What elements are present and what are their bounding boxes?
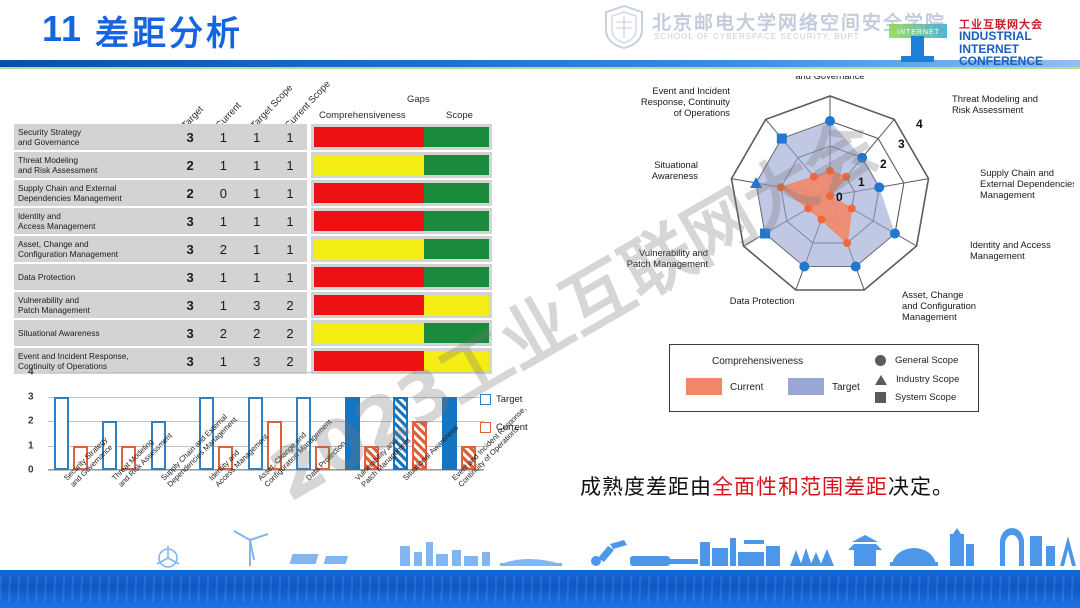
university-name-en: SCHOOL OF CYBERSPACE SECURITY, BUPT <box>654 32 860 41</box>
table-cell-target-scope: 1 <box>240 208 273 234</box>
conclusion-prefix: 成熟度差距由 <box>580 476 712 499</box>
radar-marker-general-scope <box>851 261 861 271</box>
table-row: Asset, Change andConfiguration Managemen… <box>14 236 492 262</box>
table-cell-current: 1 <box>207 208 240 234</box>
table-cell-current-scope: 1 <box>273 124 306 150</box>
table-body: Security Strategyand Governance3111Threa… <box>14 122 492 376</box>
legend-title-comprehensiveness: Comprehensiveness <box>712 356 803 367</box>
conclusion-suffix: 决定。 <box>888 476 954 499</box>
legend-label-target: Target <box>832 382 860 393</box>
table-cell-gap-bars <box>311 208 492 234</box>
gap-bar-scope <box>424 323 489 343</box>
radar-r-tick: 0 <box>836 190 843 204</box>
gap-bar-comprehensiveness <box>314 183 425 203</box>
table-row: Vulnerability andPatch Management3132 <box>14 292 492 318</box>
table-cell-target: 3 <box>173 236 206 262</box>
title-divider-green <box>0 67 1080 69</box>
radar-chart-legend: Comprehensiveness Current Target General… <box>669 344 979 412</box>
table-row: Security Strategyand Governance3111 <box>14 124 492 150</box>
table-row: Supply Chain and ExternalDependencies Ma… <box>14 180 492 206</box>
table-cell-capability: Threat Modelingand Risk Assessment <box>14 152 173 178</box>
table-cell-capability: Asset, Change andConfiguration Managemen… <box>14 236 173 262</box>
table-header-gaps: Gaps <box>407 94 430 105</box>
radar-category-label: Vulnerability andPatch Management <box>627 247 709 269</box>
table-cell-target: 2 <box>173 180 206 206</box>
table-cell-current-scope: 1 <box>273 264 306 290</box>
table-cell-target: 3 <box>173 320 206 346</box>
conclusion-text: 成熟度差距由全面性和范围差距决定。 <box>580 471 954 501</box>
table-row: Identity andAccess Management3111 <box>14 208 492 234</box>
radar-category-label: Supply Chain andExternal DependenciesMan… <box>980 167 1074 200</box>
gap-bar-scope <box>424 267 489 287</box>
bar-chart-y-tick: 2 <box>28 416 34 427</box>
table-cell-current-scope: 1 <box>273 180 306 206</box>
bar-chart-y-tick: 1 <box>28 440 34 451</box>
gap-bar-scope <box>424 295 489 315</box>
radar-marker-general-scope <box>799 261 809 271</box>
table-cell-capability: Identity andAccess Management <box>14 208 173 234</box>
bar-legend-item-target: Target <box>480 394 570 405</box>
square-marker-icon <box>875 392 886 403</box>
gap-bar-comprehensiveness <box>314 155 425 175</box>
table-cell-capability: Security Strategyand Governance <box>14 124 173 150</box>
conference-name-en: INDUSTRIAL INTERNET CONFERENCE <box>959 30 1043 68</box>
gap-bar-scope <box>424 211 489 231</box>
radar-category-label: Identity and AccessManagement <box>970 239 1051 261</box>
table-header-comprehensiveness: Comprehensiveness <box>319 110 406 121</box>
maturity-radar-chart: 01234Security Strategyand GovernanceThre… <box>612 76 1074 326</box>
bar-chart-y-tick: 3 <box>28 391 34 402</box>
table-cell-target-scope: 1 <box>240 236 273 262</box>
table-cell-current: 1 <box>207 152 240 178</box>
table-cell-capability: Situational Awareness <box>14 320 173 346</box>
svg-text:INTERNET: INTERNET <box>897 29 940 36</box>
radar-r-tick: 3 <box>898 137 905 151</box>
radar-marker-system-scope <box>777 134 787 144</box>
target-swatch-icon <box>480 394 491 405</box>
bar-chart-y-tick: 0 <box>28 465 34 476</box>
radar-marker-general-scope <box>890 229 900 239</box>
radar-chart-svg: 01234Security Strategyand GovernanceThre… <box>612 76 1074 326</box>
footer-water-band <box>0 570 1080 608</box>
radar-r-tick: 4 <box>916 117 923 131</box>
slide-header: 11 差距分析 北京邮电大学网络空间安全学院 SCHOOL OF CYBERSP… <box>0 0 1080 68</box>
legend-label-industry-scope: Industry Scope <box>896 374 959 385</box>
gap-bar-scope <box>424 155 489 175</box>
conference-en-line3: CONFERENCE <box>959 55 1043 68</box>
gap-bar-comprehensiveness <box>314 267 425 287</box>
legend-label-system-scope: System Scope <box>895 392 956 403</box>
table-cell-current: 0 <box>207 180 240 206</box>
gap-bar-comprehensiveness <box>314 323 425 343</box>
legend-item-system-scope: System Scope <box>875 392 956 403</box>
bar-legend-label-target: Target <box>496 394 522 405</box>
radar-category-label: SituationalAwareness <box>652 159 699 181</box>
table-row: Situational Awareness3222 <box>14 320 492 346</box>
radar-marker-current <box>848 205 856 213</box>
table-cell-current: 1 <box>207 264 240 290</box>
table-row: Threat Modelingand Risk Assessment2111 <box>14 152 492 178</box>
table-cell-current-scope: 1 <box>273 236 306 262</box>
table-cell-current: 1 <box>207 292 240 318</box>
gap-bar-scope <box>424 239 489 259</box>
radar-marker-current <box>842 173 850 181</box>
table-cell-target: 2 <box>173 152 206 178</box>
bar-chart-legend: Target Current <box>480 394 570 450</box>
radar-category-label: Threat Modeling andRisk Assessment <box>952 93 1038 115</box>
table-cell-target: 3 <box>173 124 206 150</box>
triangle-marker-icon <box>875 375 887 385</box>
gap-bar-comprehensiveness <box>314 239 425 259</box>
radar-r-tick: 1 <box>858 175 865 189</box>
table-cell-target-scope: 1 <box>240 124 273 150</box>
table-cell-current-scope: 1 <box>273 152 306 178</box>
conference-mark-icon: INTERNET <box>887 16 955 64</box>
university-logo: 北京邮电大学网络空间安全学院 SCHOOL OF CYBERSPACE SECU… <box>602 4 887 50</box>
table-cell-gap-bars <box>311 320 492 346</box>
table-cell-current-scope: 2 <box>273 292 306 318</box>
table-cell-target: 3 <box>173 264 206 290</box>
bar-chart-y-tick: 4 <box>28 367 34 378</box>
conclusion-highlight: 全面性和范围差距 <box>712 476 888 499</box>
table-cell-gap-bars <box>311 292 492 318</box>
radar-marker-general-scope <box>857 153 867 163</box>
legend-label-general-scope: General Scope <box>895 355 958 366</box>
slide-footer <box>0 548 1080 608</box>
bar-legend-item-current: Current <box>480 422 570 433</box>
radar-marker-current <box>817 215 825 223</box>
gap-bar-scope <box>424 183 489 203</box>
legend-item-industry-scope: Industry Scope <box>875 374 959 385</box>
circle-marker-icon <box>875 355 886 366</box>
table-cell-target-scope: 1 <box>240 152 273 178</box>
table-cell-capability: Data Protection <box>14 264 173 290</box>
gap-bar-comprehensiveness <box>314 127 425 147</box>
table-header-scope: Scope <box>446 110 473 121</box>
radar-marker-general-scope <box>874 182 884 192</box>
radar-marker-current <box>843 239 851 247</box>
table-row: Data Protection3111 <box>14 264 492 290</box>
gap-bar-scope <box>424 127 489 147</box>
radar-marker-current <box>810 173 818 181</box>
legend-swatch-current <box>686 378 722 395</box>
bar-chart-plot-area <box>48 372 484 470</box>
radar-marker-current <box>777 183 785 191</box>
gap-bar-comprehensiveness <box>314 211 425 231</box>
conference-logo: INTERNET 工业互联网大会 INDUSTRIAL INTERNET CON… <box>887 16 1072 66</box>
table-cell-capability: Vulnerability andPatch Management <box>14 292 173 318</box>
table-cell-gap-bars <box>311 152 492 178</box>
table-cell-current: 2 <box>207 236 240 262</box>
table-cell-current-scope: 1 <box>273 208 306 234</box>
table-cell-gap-bars <box>311 236 492 262</box>
radar-marker-current <box>826 192 834 200</box>
table-cell-current: 2 <box>207 320 240 346</box>
radar-marker-general-scope <box>825 116 835 126</box>
current-swatch-icon <box>480 422 491 433</box>
table-cell-gap-bars <box>311 264 492 290</box>
bar-target <box>54 397 69 471</box>
crest-icon <box>602 4 646 50</box>
page-number: 11 <box>42 8 82 50</box>
radar-r-tick: 2 <box>880 157 887 171</box>
city-skyline-graphic <box>0 528 1080 572</box>
radar-category-label: Data Protection <box>730 295 795 306</box>
maturity-gap-table: Target Current Target Scope Current Scop… <box>14 86 492 358</box>
legend-label-current: Current <box>730 382 763 393</box>
gap-bar-comprehensiveness <box>314 295 425 315</box>
radar-category-label: Security Strategyand Governance <box>794 76 866 81</box>
radar-category-label: Asset, Changeand ConfigurationManagement <box>902 289 976 322</box>
table-cell-gap-bars <box>311 180 492 206</box>
table-cell-current: 1 <box>207 124 240 150</box>
table-cell-target: 3 <box>173 292 206 318</box>
radar-marker-system-scope <box>760 229 770 239</box>
table-cell-current-scope: 2 <box>273 320 306 346</box>
table-cell-target-scope: 1 <box>240 180 273 206</box>
table-cell-gap-bars <box>311 124 492 150</box>
legend-item-general-scope: General Scope <box>875 355 958 366</box>
page-title: 差距分析 <box>95 6 243 55</box>
table-cell-target-scope: 1 <box>240 264 273 290</box>
radar-category-label: Event and IncidentResponse, Continuityof… <box>641 85 731 118</box>
conference-en-line1: INDUSTRIAL <box>959 30 1043 43</box>
table-cell-target-scope: 2 <box>240 320 273 346</box>
table-cell-target-scope: 3 <box>240 292 273 318</box>
bar-legend-label-current: Current <box>496 422 528 433</box>
bar-target <box>345 397 360 471</box>
radar-marker-current <box>804 205 812 213</box>
radar-marker-current <box>826 167 834 175</box>
table-cell-capability: Supply Chain and ExternalDependencies Ma… <box>14 180 173 206</box>
table-cell-target: 3 <box>173 208 206 234</box>
legend-swatch-target <box>788 378 824 395</box>
